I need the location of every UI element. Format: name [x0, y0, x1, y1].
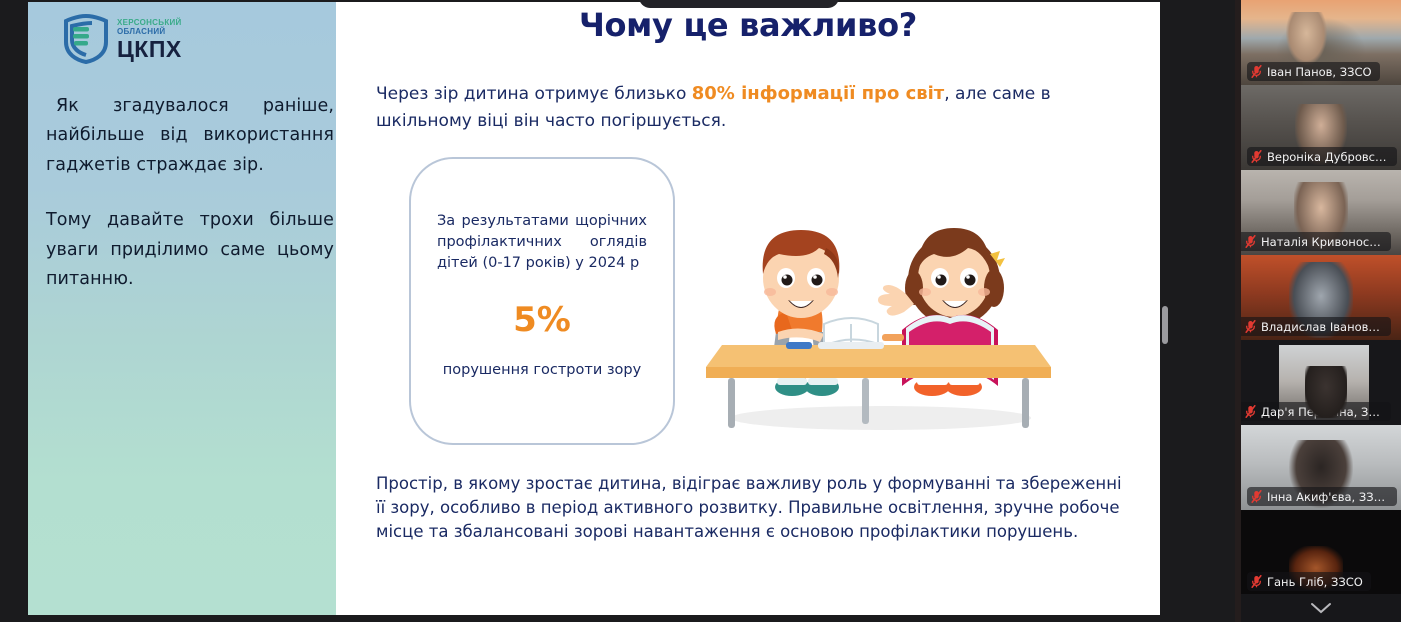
microphone-off-icon: [1251, 575, 1262, 588]
statistic-value: 5%: [513, 300, 571, 340]
participant-name: Наталія Кривонос ЗЗС...: [1261, 235, 1383, 249]
participant-namebar: Іван Панов, ЗЗСО: [1247, 62, 1380, 81]
participant-name: Іван Панов, ЗЗСО: [1267, 65, 1372, 79]
participant-tile-5[interactable]: Інна Акиф'єва, ЗЗСО ...: [1241, 425, 1401, 510]
participant-namebar: Гань Гліб, ЗЗСО: [1247, 572, 1371, 591]
lead-text-before: Через зір дитина отримує близько: [376, 84, 692, 104]
microphone-off-icon: [1245, 405, 1256, 418]
participant-tile-3[interactable]: Владислав Іванов, ЗЗС...: [1241, 255, 1401, 340]
participant-namebar: Наталія Кривонос ЗЗС...: [1241, 232, 1391, 251]
notes-paragraph-2: Тому давайте трохи більше уваги приділим…: [46, 206, 334, 294]
collapsed-toolbar-pill[interactable]: [639, 0, 839, 8]
children-reading-illustration: [706, 182, 1051, 437]
slide-closing-paragraph: Простір, в якому зростає дитина, відігра…: [376, 472, 1134, 544]
microphone-off-icon: [1251, 150, 1262, 163]
slide-notes-panel: ХЕРСОНСЬКИЙ ОБЛАСНИЙ ЦКПХ Як згадувалося…: [28, 2, 336, 615]
meeting-window: ХЕРСОНСЬКИЙ ОБЛАСНИЙ ЦКПХ Як згадувалося…: [0, 0, 1401, 622]
shared-screen-stage[interactable]: ХЕРСОНСЬКИЙ ОБЛАСНИЙ ЦКПХ Як згадувалося…: [0, 0, 1235, 622]
microphone-off-icon: [1251, 65, 1262, 78]
filmstrip-scroll-down-button[interactable]: [1241, 594, 1401, 622]
presentation-slide: ХЕРСОНСЬКИЙ ОБЛАСНИЙ ЦКПХ Як згадувалося…: [28, 2, 1160, 615]
shield-logo-icon: [62, 14, 110, 64]
logo-line-1: ХЕРСОНСЬКИЙ: [117, 19, 182, 27]
microphone-off-icon: [1251, 490, 1262, 503]
organization-logo: ХЕРСОНСЬКИЙ ОБЛАСНИЙ ЦКПХ: [62, 14, 182, 64]
participant-namebar: Вероніка Дубровська: [1247, 147, 1397, 166]
slide-content-panel: Чому це важливо? Через зір дитина отриму…: [336, 2, 1160, 615]
participant-tile-0[interactable]: Іван Панов, ЗЗСО: [1241, 0, 1401, 85]
participant-tile-2[interactable]: Наталія Кривонос ЗЗС...: [1241, 170, 1401, 255]
slide-lead-paragraph: Через зір дитина отримує близько 80% інф…: [376, 80, 1052, 134]
participant-name: Інна Акиф'єва, ЗЗСО ...: [1267, 490, 1389, 504]
shared-screen-scroll-thumb[interactable]: [1162, 306, 1168, 344]
microphone-off-icon: [1245, 320, 1256, 333]
participant-name: Гань Гліб, ЗЗСО: [1267, 575, 1363, 589]
participant-tile-6[interactable]: Гань Гліб, ЗЗСО: [1241, 510, 1401, 595]
participant-filmstrip[interactable]: Іван Панов, ЗЗСО Вероніка Дубровська Нат…: [1241, 0, 1401, 622]
logo-acronym: ЦКПХ: [117, 38, 182, 61]
slide-title: Чому це важливо?: [336, 6, 1160, 44]
lead-highlight: 80% інформації про світ: [692, 83, 945, 104]
participant-namebar: Владислав Іванов, ЗЗС...: [1241, 317, 1391, 336]
participant-namebar: Інна Акиф'єва, ЗЗСО ...: [1247, 487, 1397, 506]
notes-paragraph-1: Як згадувалося раніше, найбільше від вик…: [46, 92, 334, 180]
statistic-caption: порушення гостроти зору: [443, 362, 641, 378]
participant-name: Вероніка Дубровська: [1267, 150, 1389, 164]
notes-text-block: Як згадувалося раніше, найбільше від вик…: [46, 92, 334, 320]
statistic-intro: За результатами щорічних профілактичних …: [437, 211, 647, 274]
logo-line-2: ОБЛАСНИЙ: [117, 28, 182, 36]
participant-tile-1[interactable]: Вероніка Дубровська: [1241, 85, 1401, 170]
participant-name: Владислав Іванов, ЗЗС...: [1261, 320, 1383, 334]
participant-tile-4[interactable]: Дар'я Першина, ЗЗСО...: [1241, 340, 1401, 425]
statistic-card: За результатами щорічних профілактичних …: [409, 157, 675, 445]
microphone-off-icon: [1245, 235, 1256, 248]
chevron-down-icon: [1310, 602, 1332, 614]
